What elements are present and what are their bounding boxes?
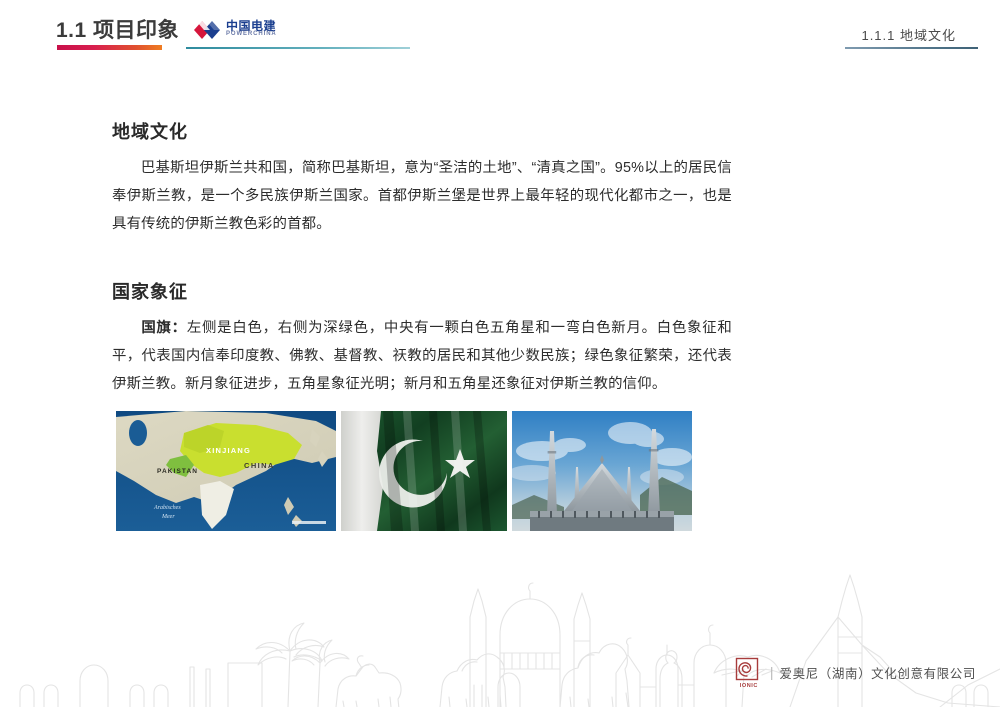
map-label-sea-line1: Arabisches (153, 505, 181, 511)
paragraph-lead-label: 国旗： (141, 320, 187, 336)
slide-page: 1.1 项目印象 中国电建 POWERCHINA 1.1.1 地域文化 地域文化… (0, 0, 1000, 707)
map-scale-bar (292, 521, 326, 524)
paragraph-regional-culture-text: 巴基斯坦伊斯兰共和国，简称巴基斯坦，意为“圣洁的土地”、“清真之国”。95%以上… (112, 160, 732, 232)
image-faisal-mosque[interactable] (512, 411, 692, 531)
header-section-number: 1.1 项目印象 (56, 14, 179, 44)
map-graphic: XINJIANG CHINA PAKISTAN Arabisches Meer (116, 411, 336, 531)
ionic-spiral-icon (734, 657, 764, 683)
map-label-china: CHINA (244, 461, 275, 470)
header-mid-accent-rule (186, 47, 410, 49)
powerchina-diamond-icon (192, 17, 222, 43)
footer-company-name: 爱奥尼（湖南）文化创意有限公司 (779, 663, 976, 682)
powerchina-logo: 中国电建 POWERCHINA (192, 17, 292, 43)
paragraph-regional-culture: 巴基斯坦伊斯兰共和国，简称巴基斯坦，意为“圣洁的土地”、“清真之国”。95%以上… (112, 154, 732, 238)
header-right-accent-rule (845, 47, 978, 49)
image-map-china-pakistan[interactable]: XINJIANG CHINA PAKISTAN Arabisches Meer (116, 411, 336, 531)
map-label-xinjiang: XINJIANG (206, 446, 251, 455)
section-heading-regional-culture: 地域文化 (112, 118, 732, 144)
map-label-sea-line2: Meer (161, 514, 175, 520)
flag-graphic (341, 411, 507, 531)
map-label-pakistan: PAKISTAN (157, 468, 198, 475)
page-footer: IONIC | 爱奥尼（湖南）文化创意有限公司 (734, 655, 976, 689)
ionic-logo: IONIC (734, 657, 764, 687)
page-header: 1.1 项目印象 中国电建 POWERCHINA 1.1.1 地域文化 (0, 0, 1000, 60)
powerchina-logo-en-text: POWERCHINA (226, 31, 277, 37)
header-subsection-title: 1.1.1 地域文化 (861, 25, 956, 44)
image-strip: XINJIANG CHINA PAKISTAN Arabisches Meer (116, 411, 694, 531)
ionic-logo-label: IONIC (734, 683, 764, 689)
paragraph-national-flag-text: 左侧是白色，右侧为深绿色，中央有一颗白色五角星和一弯白色新月。白色象征和平，代表… (112, 320, 732, 392)
section-heading-national-symbols: 国家象征 (112, 278, 732, 304)
image-pakistan-flag[interactable] (341, 411, 507, 531)
content-body: 地域文化 巴基斯坦伊斯兰共和国，简称巴基斯坦，意为“圣洁的土地”、“清真之国”。… (112, 118, 732, 398)
header-left-accent-rule (57, 45, 162, 50)
mosque-graphic (512, 411, 692, 531)
paragraph-national-flag: 国旗：左侧是白色，右侧为深绿色，中央有一颗白色五角星和一弯白色新月。白色象征和平… (112, 314, 732, 398)
footer-separator: | (770, 664, 774, 680)
